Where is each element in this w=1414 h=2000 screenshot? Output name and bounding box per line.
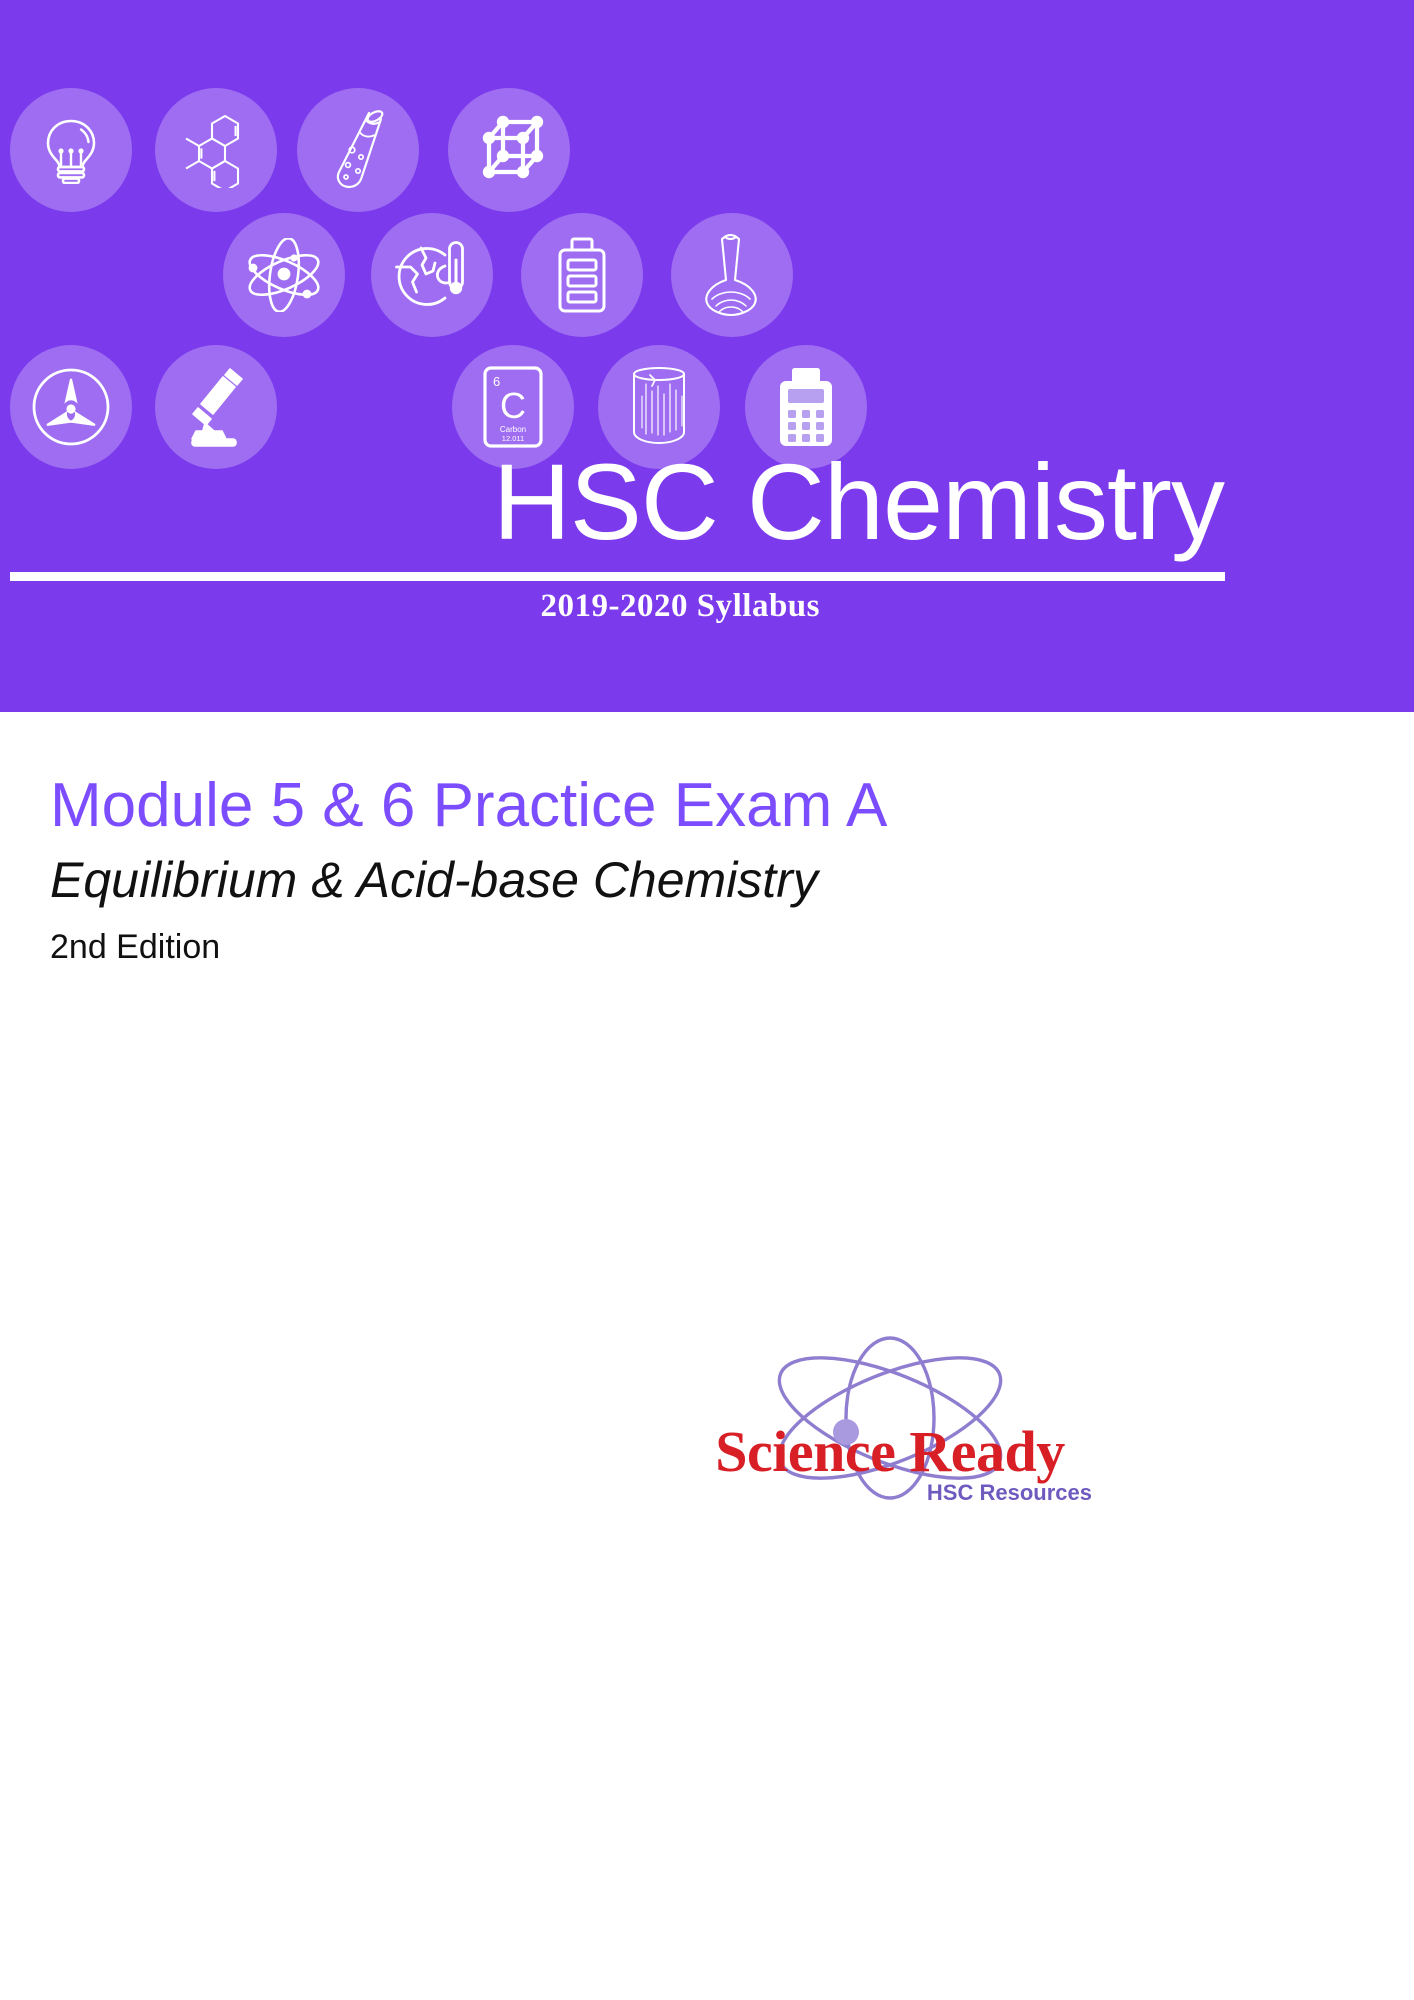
brand-logo: Science Ready HSC Resources <box>680 1330 1100 1540</box>
cover-subtitle: 2019-2020 Syllabus <box>0 588 1224 625</box>
crystal-lattice-icon <box>448 88 570 212</box>
document-title: Module 5 & 6 Practice Exam A <box>50 770 887 841</box>
volumetric-flask-icon <box>671 213 793 337</box>
cover-header-band: 6 C Carbon 12.011 <box>0 0 1414 712</box>
molecule-hexagons-icon <box>155 88 277 212</box>
brand-tagline: HSC Resources <box>680 1480 1100 1506</box>
test-tube-icon <box>297 88 419 212</box>
carbon-element-name: Carbon <box>500 425 526 434</box>
document-edition: 2nd Edition <box>50 928 220 967</box>
atom-icon <box>223 213 345 337</box>
document-subtitle: Equilibrium & Acid-base Chemistry <box>50 852 818 910</box>
battery-icon <box>521 213 643 337</box>
globe-thermometer-icon <box>371 213 493 337</box>
brand-wordmark: Science Ready <box>680 1418 1100 1485</box>
title-underline-rule <box>10 572 1225 581</box>
carbon-symbol: C <box>500 385 526 426</box>
cover-title: HSC Chemistry <box>0 448 1224 556</box>
lightbulb-icon <box>10 88 132 212</box>
